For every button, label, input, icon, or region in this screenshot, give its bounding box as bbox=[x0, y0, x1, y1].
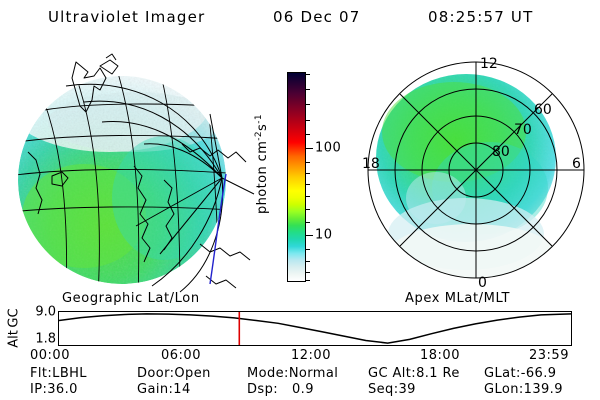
colorbar-tick-minor bbox=[306, 272, 310, 273]
magnetic-caption: Apex MLat/MLT bbox=[405, 291, 510, 306]
status-door: Door: Open bbox=[137, 366, 174, 381]
mlt-label-6: 6 bbox=[572, 156, 581, 172]
colorbar-tick-minor bbox=[306, 222, 310, 223]
geographic-image-panel[interactable] bbox=[14, 48, 264, 293]
altitude-xtick-0600: 06:00 bbox=[161, 348, 201, 363]
status-glon: GLon: 139.9 bbox=[484, 382, 524, 397]
observation-date: 06 Dec 07 bbox=[273, 8, 361, 26]
altitude-x-ticks: 00:00 06:00 12:00 18:00 23:59 bbox=[0, 348, 600, 366]
colorbar-tick-minor bbox=[306, 184, 310, 185]
colorbar-label-10: 10 bbox=[315, 228, 333, 243]
altitude-xtick-1200: 12:00 bbox=[291, 348, 331, 363]
colorbar-tick-minor bbox=[306, 134, 310, 135]
instrument-title: Ultraviolet Imager bbox=[48, 8, 205, 26]
status-seq: Seq: 39 bbox=[368, 382, 398, 397]
altitude-xtick-2359: 23:59 bbox=[529, 348, 569, 363]
colorbar-tick-major bbox=[306, 235, 313, 236]
colorbar-tick-major bbox=[306, 148, 313, 149]
status-footer: Flt: LBHL Door: Open Mode: Normal GC Alt… bbox=[0, 366, 600, 400]
colorbar-axis: 100 10 bbox=[306, 72, 358, 282]
altitude-ytick-low: 1.8 bbox=[35, 332, 56, 347]
colorbar-gradient bbox=[288, 73, 305, 281]
magnetic-dial-panel[interactable]: 12 6 0 18 60 70 80 bbox=[362, 48, 594, 293]
mlat-label-70: 70 bbox=[514, 122, 532, 138]
mlt-label-18: 18 bbox=[362, 156, 380, 172]
colorbar-tick-minor bbox=[306, 120, 310, 121]
altitude-ytick-high: 9.0 bbox=[35, 305, 56, 320]
altitude-axis-label-line2: Alt bbox=[7, 330, 22, 348]
observation-time: 08:25:57 UT bbox=[428, 8, 533, 26]
colorbar: photon cm-2s-1 100 10 bbox=[268, 60, 358, 295]
status-ip: IP: 36.0 bbox=[30, 382, 47, 397]
status-flt: Flt: LBHL bbox=[30, 366, 52, 381]
colorbar-tick-minor bbox=[306, 162, 310, 163]
magnetic-plot-svg: 12 6 0 18 60 70 80 bbox=[362, 48, 594, 293]
altitude-y-ticks: 9.0 1.8 bbox=[24, 306, 56, 350]
colorbar-tick-minor bbox=[306, 104, 310, 105]
colorbar-tick-minor bbox=[306, 261, 310, 262]
status-gain: Gain: 14 bbox=[137, 382, 173, 397]
altitude-strip-chart[interactable] bbox=[58, 311, 572, 346]
geographic-plot-svg bbox=[14, 48, 264, 293]
colorbar-gradient-box bbox=[287, 72, 306, 282]
status-dsp: Dsp: 0.9 bbox=[247, 382, 278, 397]
status-glat: GLat: -66.9 bbox=[484, 366, 521, 381]
geographic-caption: Geographic Lat/Lon bbox=[62, 291, 200, 306]
colorbar-tick-minor bbox=[306, 280, 310, 281]
gc-altitude-curve bbox=[59, 314, 571, 343]
altitude-axis-label-line1: GC bbox=[7, 308, 22, 327]
colorbar-tick-minor bbox=[306, 89, 310, 90]
altitude-xtick-0000: 00:00 bbox=[30, 348, 70, 363]
altitude-axis-label: GC Alt bbox=[4, 306, 24, 350]
colorbar-tick-minor bbox=[306, 196, 310, 197]
colorbar-tick-minor bbox=[306, 209, 310, 210]
header-bar: Ultraviolet Imager 06 Dec 07 08:25:57 UT bbox=[0, 6, 600, 32]
mlat-label-60: 60 bbox=[534, 102, 552, 118]
mlt-label-12: 12 bbox=[480, 56, 498, 72]
mlat-label-80: 80 bbox=[492, 144, 510, 160]
colorbar-tick-minor bbox=[306, 74, 310, 75]
altitude-xtick-1800: 18:00 bbox=[420, 348, 460, 363]
status-gc-alt: GC Alt: 8.1 Re bbox=[368, 366, 416, 381]
colorbar-label-100: 100 bbox=[315, 141, 341, 156]
colorbar-tick-minor bbox=[306, 249, 310, 250]
colorbar-unit-label: photon cm-2s-1 bbox=[254, 114, 270, 214]
mlt-label-0: 0 bbox=[478, 275, 487, 291]
altitude-curve-svg bbox=[59, 312, 571, 345]
status-mode: Mode: Normal bbox=[247, 366, 289, 381]
mlt-spokes bbox=[368, 62, 584, 278]
colorbar-tick-minor bbox=[306, 173, 310, 174]
